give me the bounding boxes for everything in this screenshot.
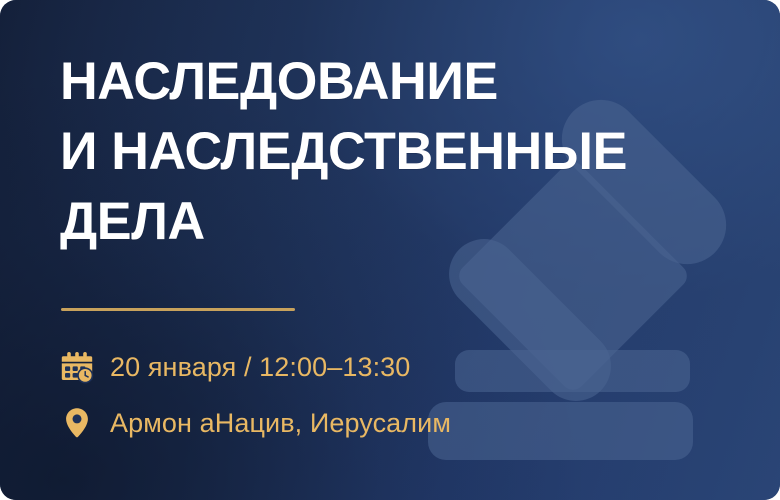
detail-row-location: Армон аНацив, Иерусалим <box>60 404 451 442</box>
gold-divider <box>61 308 295 311</box>
calendar-clock-icon <box>60 350 94 384</box>
detail-row-datetime: 20 января / 12:00–13:30 <box>60 348 451 386</box>
detail-text-location: Армон аНацив, Иерусалим <box>110 406 451 440</box>
detail-text-datetime: 20 января / 12:00–13:30 <box>110 350 410 384</box>
event-banner: НАСЛЕДОВАНИЕ И НАСЛЕДСТВЕННЫЕ ДЕЛА <box>0 0 780 500</box>
location-pin-icon <box>60 406 94 440</box>
banner-content: НАСЛЕДОВАНИЕ И НАСЛЕДСТВЕННЫЕ ДЕЛА <box>60 0 720 500</box>
event-details: 20 января / 12:00–13:30 Армон аНацив, Ие… <box>60 348 451 442</box>
page-title: НАСЛЕДОВАНИЕ И НАСЛЕДСТВЕННЫЕ ДЕЛА <box>60 47 627 257</box>
